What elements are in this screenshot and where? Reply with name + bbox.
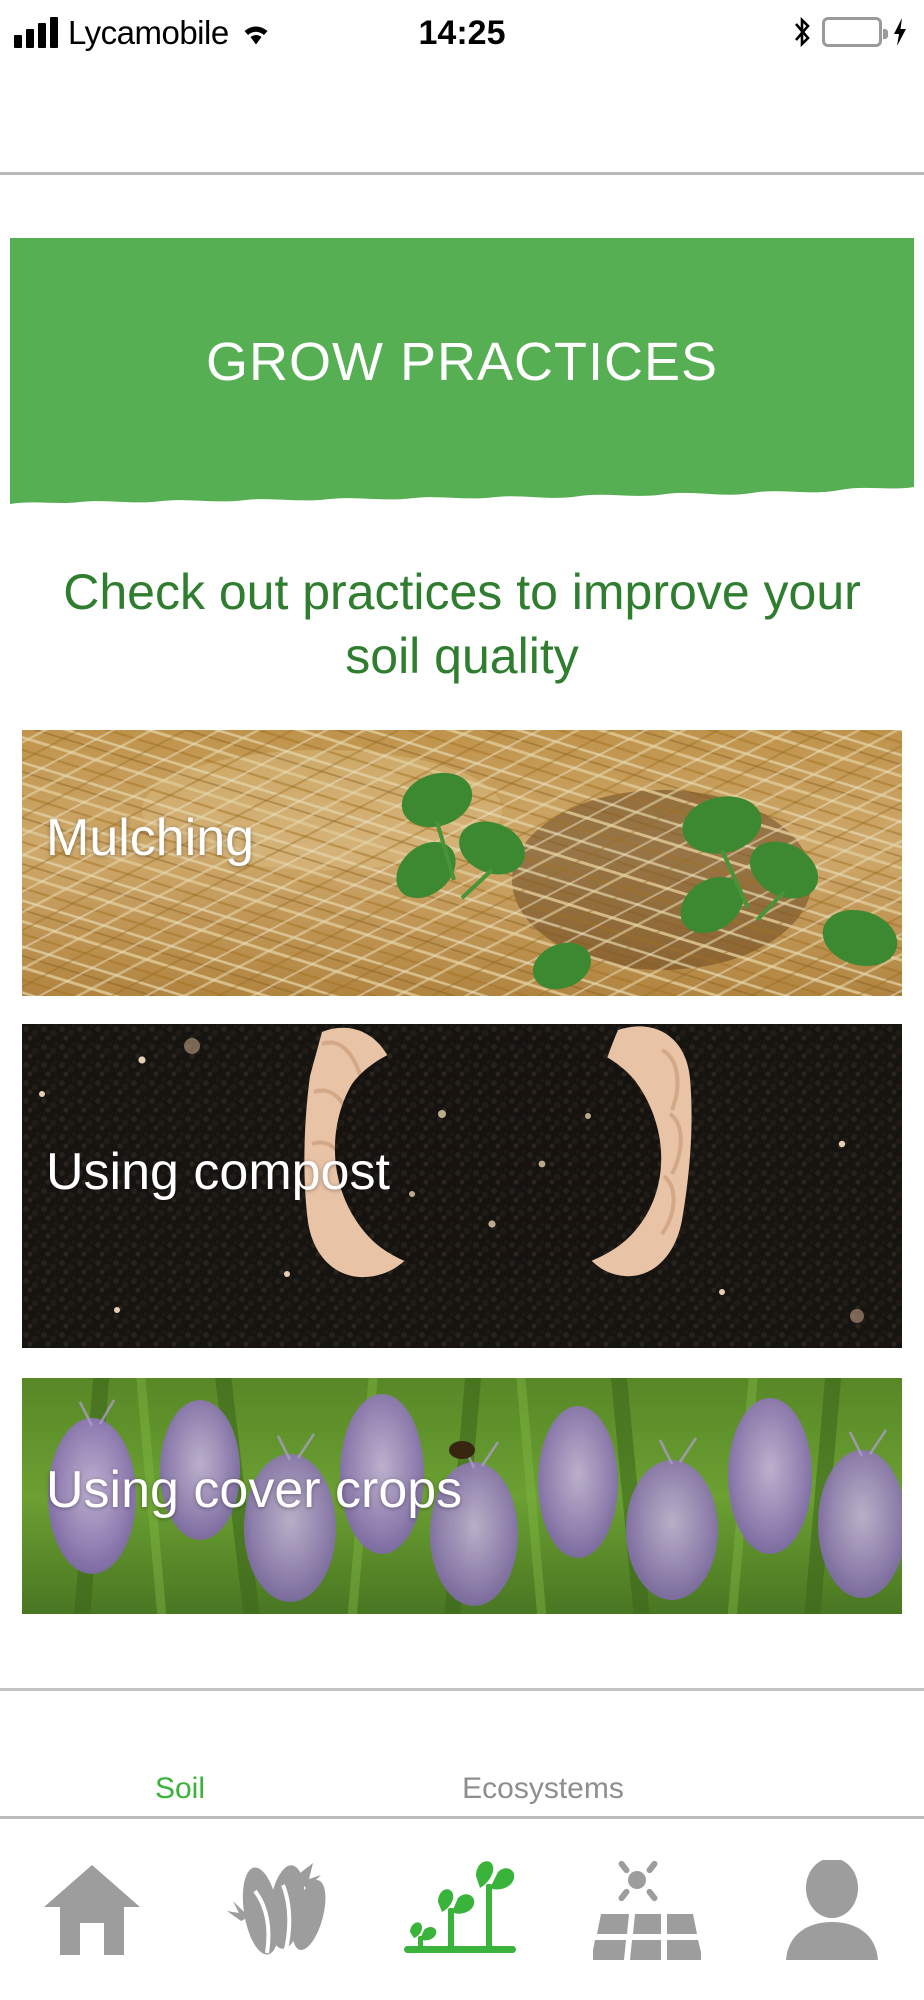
bluetooth-icon (792, 16, 812, 48)
practice-card-label: Using compost (46, 1142, 390, 1202)
page-title: GROW PRACTICES (10, 238, 914, 486)
battery-icon (822, 17, 882, 47)
seedling-icon (402, 1858, 522, 1962)
header-divider (0, 172, 924, 175)
person-icon (782, 1860, 882, 1960)
section-label-ecosystems: Ecosystems (450, 1772, 636, 1806)
status-bar-clock: 14:25 (0, 14, 924, 53)
app-screen: Lycamobile 14:25 (0, 0, 924, 2000)
status-bar-right (792, 16, 908, 48)
nav-item-profile[interactable] (739, 1819, 924, 2000)
solar-panel-icon (593, 1858, 701, 1962)
nav-item-home[interactable] (0, 1819, 185, 2000)
practice-card-using-compost[interactable]: Using compost (22, 1024, 902, 1348)
home-icon (40, 1861, 144, 1959)
nav-item-ecosystems[interactable] (554, 1819, 739, 2000)
nav-item-crops[interactable] (185, 1819, 370, 2000)
nav-item-soil[interactable] (370, 1819, 555, 2000)
practice-card-label: Mulching (46, 808, 254, 868)
content-bottom-divider (0, 1688, 924, 1691)
section-label-row: Soil Ecosystems (0, 1772, 924, 1816)
vegetables-icon (225, 1861, 329, 1959)
status-bar: Lycamobile 14:25 (0, 0, 924, 80)
practice-card-using-cover-crops[interactable]: Using cover crops (22, 1378, 902, 1614)
practice-card-label: Using cover crops (46, 1460, 462, 1520)
bottom-navigation-bar[interactable] (0, 1816, 924, 2000)
charging-bolt-icon (892, 16, 908, 48)
page-subtitle: Check out practices to improve your soil… (40, 560, 884, 688)
practice-card-mulching[interactable]: Mulching (22, 730, 902, 996)
section-label-soil: Soil (100, 1772, 260, 1806)
page-banner: GROW PRACTICES (10, 238, 914, 506)
